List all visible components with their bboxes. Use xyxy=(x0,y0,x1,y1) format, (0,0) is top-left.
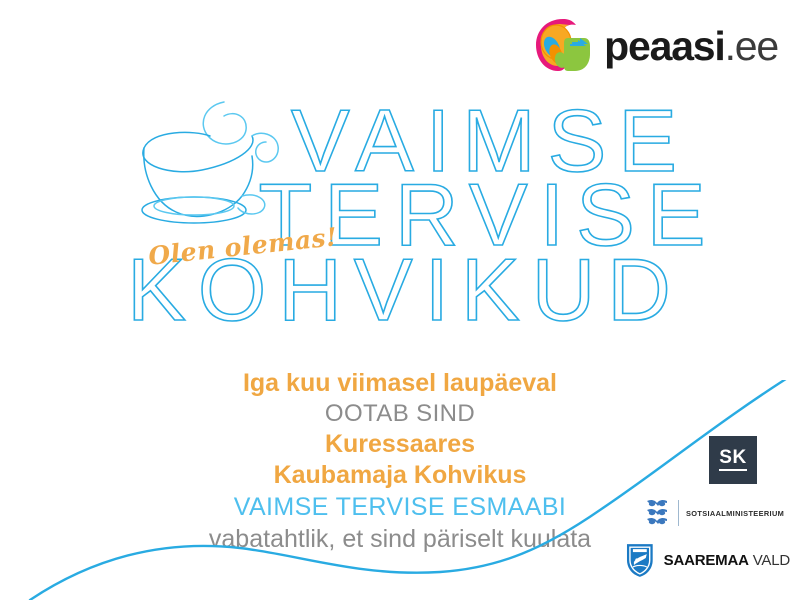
estonia-three-lions-crest-icon xyxy=(645,498,671,528)
page-title: VAIMSE TERVISE KOHVIKUD xyxy=(0,104,800,328)
saaremaa-label: SAAREMAA VALD xyxy=(664,552,790,569)
partner-logos: SK SOTSIAALMINISTEERIUM xyxy=(625,436,790,578)
brand-name: peaasi xyxy=(604,23,724,69)
sk-label: SK xyxy=(719,449,746,471)
saaremaa-label-regular: VALD xyxy=(753,552,790,569)
coffee-cup-line-art-icon xyxy=(132,96,342,246)
sk-square-logo[interactable]: SK xyxy=(709,436,757,484)
message-line-2: OOTAB SIND xyxy=(0,398,800,429)
saaremaa-shield-crest-icon xyxy=(625,542,655,578)
saaremaa-logo[interactable]: SAAREMAA VALD xyxy=(625,542,790,578)
title-line-1: VAIMSE xyxy=(0,104,800,178)
title-line-3: KOHVIKUD xyxy=(0,252,800,328)
message-line-1: Iga kuu viimasel laupäeval xyxy=(0,368,800,398)
poster-canvas: peaasi.ee VAIMSE TERVISE KOHVIKUD Olen o… xyxy=(0,0,800,600)
title-line-2: TERVISE xyxy=(0,178,800,252)
ministry-logo[interactable]: SOTSIAALMINISTEERIUM xyxy=(645,498,790,528)
saaremaa-label-bold: SAAREMAA xyxy=(664,552,749,569)
peaasi-brand-logo[interactable]: peaasi.ee xyxy=(530,16,778,76)
brand-tld: .ee xyxy=(725,23,778,69)
peaasi-head-brain-icon xyxy=(530,16,596,76)
ministry-divider xyxy=(678,500,679,526)
ministry-label: SOTSIAALMINISTEERIUM xyxy=(686,509,784,518)
brand-wordmark: peaasi.ee xyxy=(604,26,778,67)
